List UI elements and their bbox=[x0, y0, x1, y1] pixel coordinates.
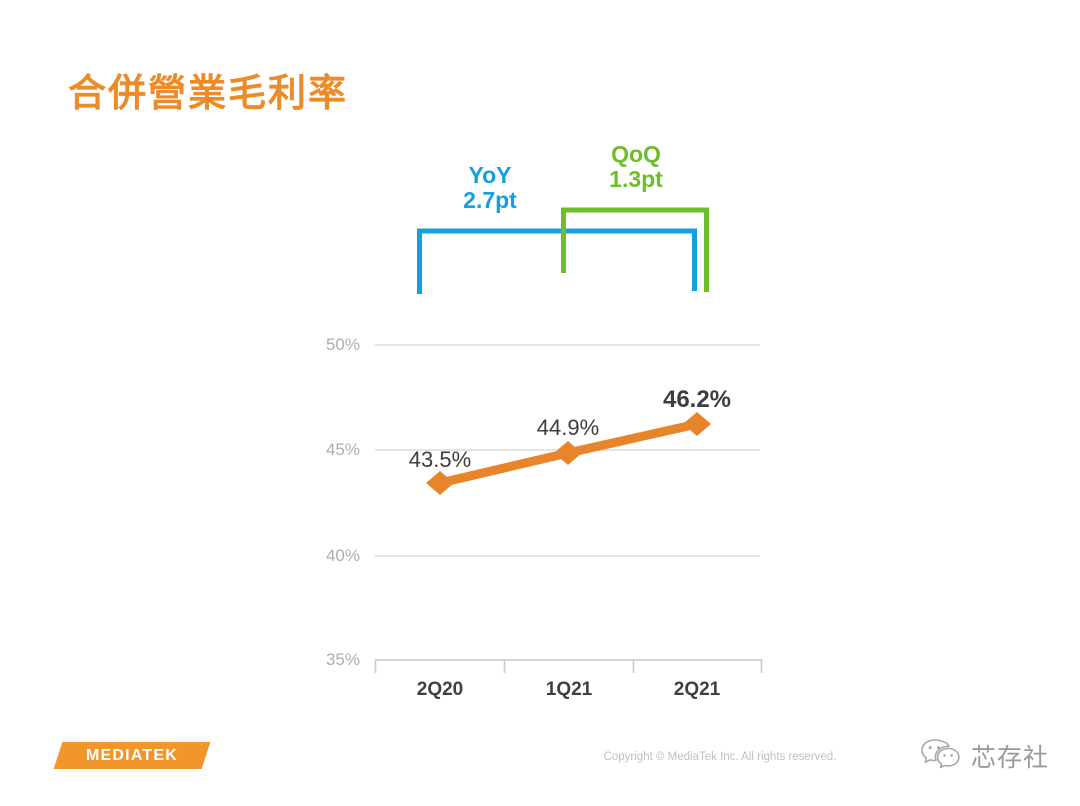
mediatek-logo-text: MEDIATEK bbox=[58, 742, 206, 769]
data-marker bbox=[683, 412, 711, 436]
qoq-value: 1.3pt bbox=[578, 167, 694, 192]
data-label-2q21: 46.2% bbox=[645, 386, 749, 414]
x-axis-label-1q21: 1Q21 bbox=[504, 679, 634, 701]
data-marker bbox=[554, 441, 582, 465]
wechat-icon bbox=[920, 737, 962, 776]
gross-margin-chart: 50% 45% 40% 35% 2Q20 1Q21 2Q21 43.5% 44.… bbox=[0, 0, 1080, 806]
data-marker bbox=[426, 471, 454, 495]
data-label-1q21: 44.9% bbox=[518, 415, 618, 441]
qoq-bracket bbox=[564, 210, 707, 292]
qoq-title: QoQ bbox=[611, 141, 661, 167]
data-label-2q20: 43.5% bbox=[390, 447, 490, 473]
yoy-value: 2.7pt bbox=[432, 188, 548, 213]
x-axis-label-2q20: 2Q20 bbox=[375, 679, 505, 701]
y-axis-tick-label: 40% bbox=[298, 546, 360, 566]
y-axis-tick-label: 35% bbox=[298, 650, 360, 670]
copyright-text: Copyright © MediaTek Inc. All rights res… bbox=[560, 751, 880, 763]
x-axis-label-2q21: 2Q21 bbox=[632, 679, 762, 701]
qoq-annotation-label: QoQ 1.3pt bbox=[578, 142, 694, 192]
y-axis-tick-label: 50% bbox=[298, 335, 360, 355]
wechat-badge: 芯存社 bbox=[920, 735, 1049, 777]
wechat-label: 芯存社 bbox=[971, 738, 1049, 774]
yoy-annotation-label: YoY 2.7pt bbox=[432, 163, 548, 213]
yoy-title: YoY bbox=[468, 162, 511, 188]
yoy-bracket bbox=[420, 231, 695, 294]
chart-x-axis bbox=[375, 660, 762, 673]
y-axis-tick-label: 45% bbox=[298, 440, 360, 460]
